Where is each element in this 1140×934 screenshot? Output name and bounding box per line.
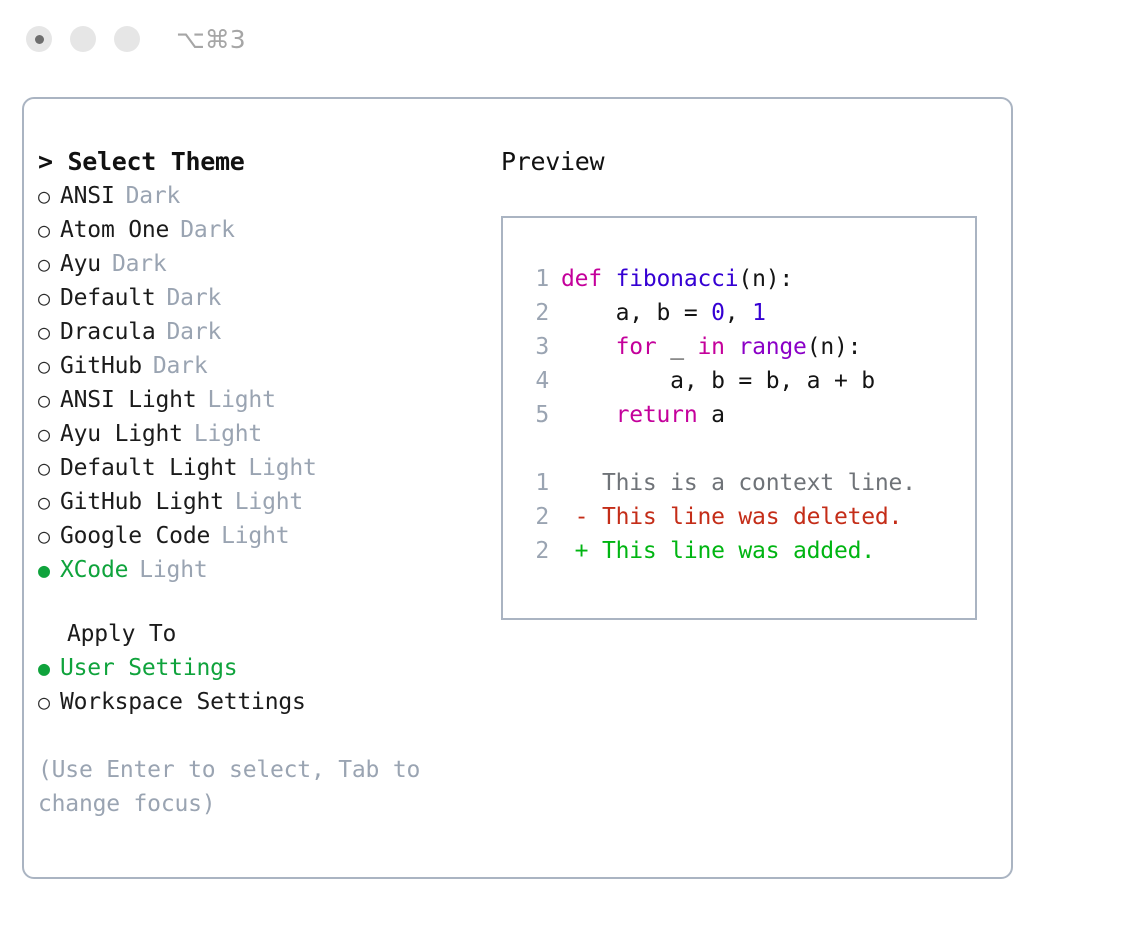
diff-line-content: This is a context line. [561,466,916,500]
preview-column: Preview 1def fibonacci(n):2 a, b = 0, 13… [501,145,991,620]
radio-unselected-icon: ○ [38,485,60,519]
radio-selected-icon: ● [38,651,60,685]
token-kw: def [561,266,616,292]
line-number: 1 [503,466,561,500]
theme-selector-panel: > Select Theme ○ANSIDark○Atom OneDark○Ay… [22,97,1013,879]
theme-option-label: XCode [60,553,128,587]
theme-option-label: Google Code [60,519,210,553]
token-del: - This line was deleted. [561,504,902,530]
theme-option-label: Default Light [60,451,237,485]
token-kw: return [616,402,698,428]
theme-option-6[interactable]: ○ANSI LightLight [38,383,498,417]
code-preview-box: 1def fibonacci(n):2 a, b = 0, 13 for _ i… [501,216,977,620]
token-kw: in [698,334,725,360]
theme-option-11[interactable]: ●XCodeLight [38,553,498,587]
keyboard-hint-line-1: (Use Enter to select, Tab to [38,753,458,787]
theme-option-3[interactable]: ○DefaultDark [38,281,498,315]
code-line-content: def fibonacci(n): [561,262,793,296]
radio-unselected-icon: ○ [38,281,60,315]
line-number: 2 [503,296,561,330]
diff-line-2: 2 + This line was added. [503,534,975,568]
line-number: 2 [503,500,561,534]
theme-option-10[interactable]: ○Google CodeLight [38,519,498,553]
theme-option-label: Atom One [60,213,169,247]
token-ctx: This is a context line. [561,470,916,496]
theme-option-tag: Dark [153,349,208,383]
token-kw: for [616,334,657,360]
app-window: ⌥⌘3 > Select Theme ○ANSIDark○Atom OneDar… [0,0,1140,934]
radio-unselected-icon: ○ [38,315,60,349]
diff-line-1: 2 - This line was deleted. [503,500,975,534]
radio-unselected-icon: ○ [38,451,60,485]
window-dot-third[interactable] [114,26,140,52]
token-pl: a [697,402,724,428]
token-pl: a, b = b, a + b [561,368,875,394]
preview-title: Preview [501,145,991,179]
keyboard-hint-line-2: change focus) [38,787,458,821]
diff-line-content: + This line was added. [561,534,875,568]
theme-option-label: Default [60,281,156,315]
code-line-content: a, b = b, a + b [561,364,875,398]
token-bi: range [738,334,806,360]
theme-option-label: ANSI Light [60,383,196,417]
radio-unselected-icon: ○ [38,349,60,383]
code-line-0: 1def fibonacci(n): [503,262,975,296]
token-fn: fibonacci [616,266,739,292]
theme-option-tag: Light [207,383,275,417]
theme-option-tag: Light [139,553,207,587]
radio-unselected-icon: ○ [38,417,60,451]
radio-unselected-icon: ○ [38,685,60,719]
apply-to-options-list[interactable]: ●User Settings○Workspace Settings [38,651,498,719]
keyboard-hint: (Use Enter to select, Tab to change focu… [38,753,458,821]
code-line-4: 5 return a [503,398,975,432]
theme-options-list[interactable]: ○ANSIDark○Atom OneDark○AyuDark○DefaultDa… [38,179,498,587]
code-line-content: a, b = 0, 1 [561,296,766,330]
hint-spacer [38,719,498,753]
token-pl: (n): [807,334,862,360]
page-title: > Select Theme [38,145,498,179]
theme-option-4[interactable]: ○DraculaDark [38,315,498,349]
code-line-2: 3 for _ in range(n): [503,330,975,364]
theme-option-tag: Light [235,485,303,519]
theme-option-2[interactable]: ○AyuDark [38,247,498,281]
token-num: 1 [752,300,766,326]
theme-option-tag: Dark [167,281,222,315]
theme-option-tag: Dark [167,315,222,349]
diff-sample: 1 This is a context line.2 - This line w… [503,466,975,568]
token-num: 0 [711,300,725,326]
token-pl: (n): [738,266,793,292]
theme-option-label: GitHub [60,349,142,383]
window-titlebar: ⌥⌘3 [0,0,1140,78]
line-number: 4 [503,364,561,398]
theme-list-column: > Select Theme ○ANSIDark○Atom OneDark○Ay… [38,145,498,821]
section-spacer [38,587,498,617]
apply-to-option-label: User Settings [60,651,237,685]
theme-option-tag: Light [221,519,289,553]
theme-option-label: Dracula [60,315,156,349]
theme-option-tag: Dark [180,213,235,247]
theme-option-1[interactable]: ○Atom OneDark [38,213,498,247]
apply-to-heading: Apply To [38,617,498,651]
theme-option-tag: Dark [126,179,181,213]
line-number: 3 [503,330,561,364]
token-add: + This line was added. [561,538,875,564]
line-number: 2 [503,534,561,568]
token-pl: , [725,300,752,326]
radio-unselected-icon: ○ [38,383,60,417]
radio-unselected-icon: ○ [38,213,60,247]
code-line-3: 4 a, b = b, a + b [503,364,975,398]
theme-option-5[interactable]: ○GitHubDark [38,349,498,383]
diff-line-0: 1 This is a context line. [503,466,975,500]
token-pl [561,334,616,360]
window-dot-second[interactable] [70,26,96,52]
theme-option-tag: Light [194,417,262,451]
apply-to-option-1[interactable]: ○Workspace Settings [38,685,498,719]
code-sample: 1def fibonacci(n):2 a, b = 0, 13 for _ i… [503,262,975,432]
window-dot-active-inner [35,35,44,44]
window-controls [26,26,140,52]
line-number: 1 [503,262,561,296]
theme-option-8[interactable]: ○Default LightLight [38,451,498,485]
token-pl: _ [657,334,698,360]
token-pl [725,334,739,360]
line-number: 5 [503,398,561,432]
code-line-content: return a [561,398,725,432]
diff-line-content: - This line was deleted. [561,500,902,534]
theme-option-label: ANSI [60,179,115,213]
theme-option-7[interactable]: ○Ayu LightLight [38,417,498,451]
theme-option-tag: Light [248,451,316,485]
theme-option-0[interactable]: ○ANSIDark [38,179,498,213]
radio-unselected-icon: ○ [38,247,60,281]
token-pl: a, b = [561,300,711,326]
apply-to-option-label: Workspace Settings [60,685,306,719]
theme-option-label: Ayu [60,247,101,281]
apply-to-option-0[interactable]: ●User Settings [38,651,498,685]
theme-option-label: GitHub Light [60,485,224,519]
theme-option-tag: Dark [112,247,167,281]
radio-selected-icon: ● [38,553,60,587]
code-line-1: 2 a, b = 0, 1 [503,296,975,330]
theme-option-9[interactable]: ○GitHub LightLight [38,485,498,519]
code-diff-separator [503,432,975,466]
radio-unselected-icon: ○ [38,519,60,553]
code-line-content: for _ in range(n): [561,330,861,364]
radio-unselected-icon: ○ [38,179,60,213]
theme-option-label: Ayu Light [60,417,183,451]
token-pl [561,402,616,428]
keyboard-shortcut-label: ⌥⌘3 [176,25,246,54]
window-dot-active[interactable] [26,26,52,52]
